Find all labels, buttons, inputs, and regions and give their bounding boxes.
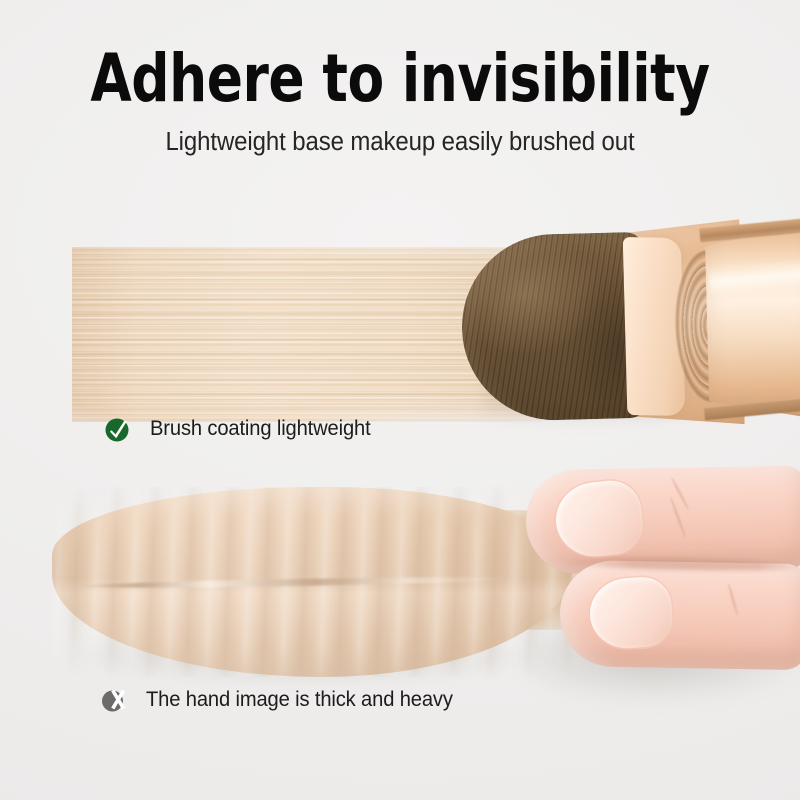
brush-bristles bbox=[460, 232, 650, 423]
makeup-brush bbox=[459, 210, 800, 439]
feature-row-lightweight: Brush coating lightweight bbox=[103, 414, 380, 444]
thick-foundation-swatch bbox=[52, 487, 572, 677]
hand-fingers bbox=[498, 462, 800, 722]
feature-label-heavy: The hand image is thick and heavy bbox=[146, 688, 453, 712]
header-block: Adhere to invisibility Lightweight base … bbox=[0, 44, 800, 157]
page-subtitle: Lightweight base makeup easily brushed o… bbox=[24, 128, 776, 157]
brush-handle bbox=[704, 213, 800, 431]
product-poster: Adhere to invisibility Lightweight base … bbox=[0, 0, 800, 800]
check-circle-icon bbox=[103, 414, 133, 444]
page-title: Adhere to invisibility bbox=[40, 44, 760, 114]
cross-circle-icon bbox=[99, 685, 129, 715]
feature-row-heavy: The hand image is thick and heavy bbox=[99, 685, 466, 715]
feature-label-lightweight: Brush coating lightweight bbox=[150, 417, 371, 441]
